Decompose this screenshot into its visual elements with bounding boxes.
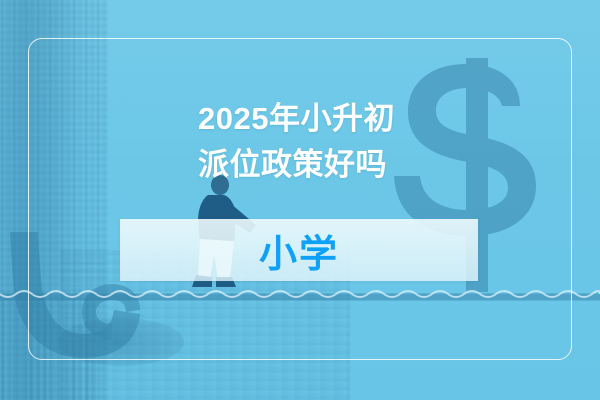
title-line-1: 2025年小升初	[198, 96, 395, 142]
decorative-frame	[28, 38, 572, 360]
keyword-label: 小学	[120, 219, 478, 281]
promo-banner: 2025年小升初 派位政策好吗 小学	[0, 0, 600, 400]
page-title: 2025年小升初 派位政策好吗	[198, 96, 395, 188]
title-line-2: 派位政策好吗	[198, 142, 395, 188]
